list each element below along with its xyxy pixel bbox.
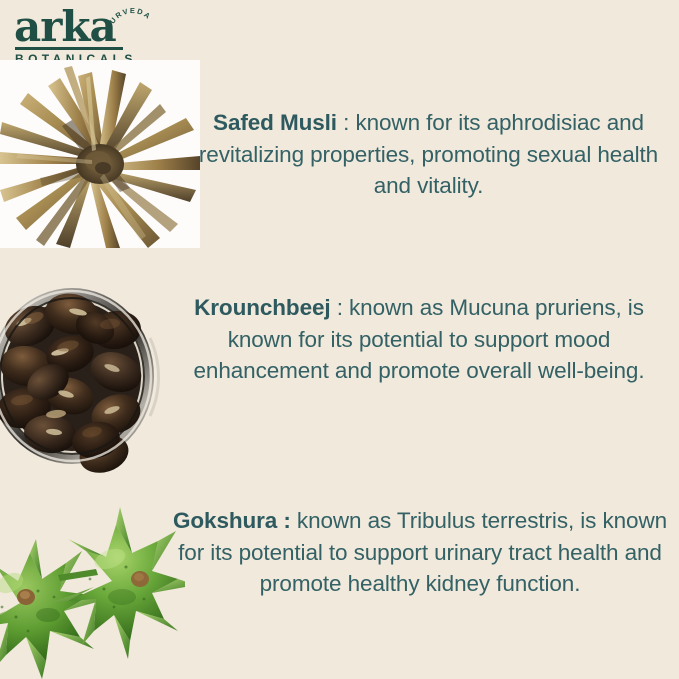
ingredient-name-gokshura: Gokshura :: [173, 508, 291, 533]
logo-divider-rule: [15, 47, 123, 50]
brand-logo: arka BOTANICALS AYURVEDA: [12, 6, 177, 64]
ingredient-copy-safed-musli: Safed Musli : known for its aphrodisiac …: [186, 107, 671, 202]
krounchbeej-beans-bowl-photo: [0, 268, 175, 483]
ingredient-row-gokshura: Gokshura : known as Tribulus terrestris,…: [0, 483, 679, 679]
logo-arc-text: AYURVEDA: [108, 8, 160, 60]
gokshura-fruit-photo: [0, 483, 185, 679]
ingredient-separator-safed-musli: :: [337, 110, 355, 135]
svg-text:AYURVEDA: AYURVEDA: [108, 8, 153, 37]
promo-graphic: arka BOTANICALS AYURVEDA: [0, 0, 679, 679]
ingredient-copy-gokshura: Gokshura : known as Tribulus terrestris,…: [172, 505, 668, 600]
ingredient-copy-krounchbeej: Krounchbeej : known as Mucuna pruriens, …: [172, 292, 666, 387]
logo-wordmark: arka: [14, 6, 116, 48]
ingredient-name-krounchbeej: Krounchbeej: [194, 295, 330, 320]
ingredient-separator-krounchbeej: :: [331, 295, 349, 320]
ingredient-row-krounchbeej: Krounchbeej : known as Mucuna pruriens, …: [0, 268, 679, 483]
logo-arc-label: AYURVEDA: [108, 8, 153, 37]
ingredient-name-safed-musli: Safed Musli: [213, 110, 337, 135]
ingredient-row-safed-musli: Safed Musli : known for its aphrodisiac …: [0, 60, 679, 260]
